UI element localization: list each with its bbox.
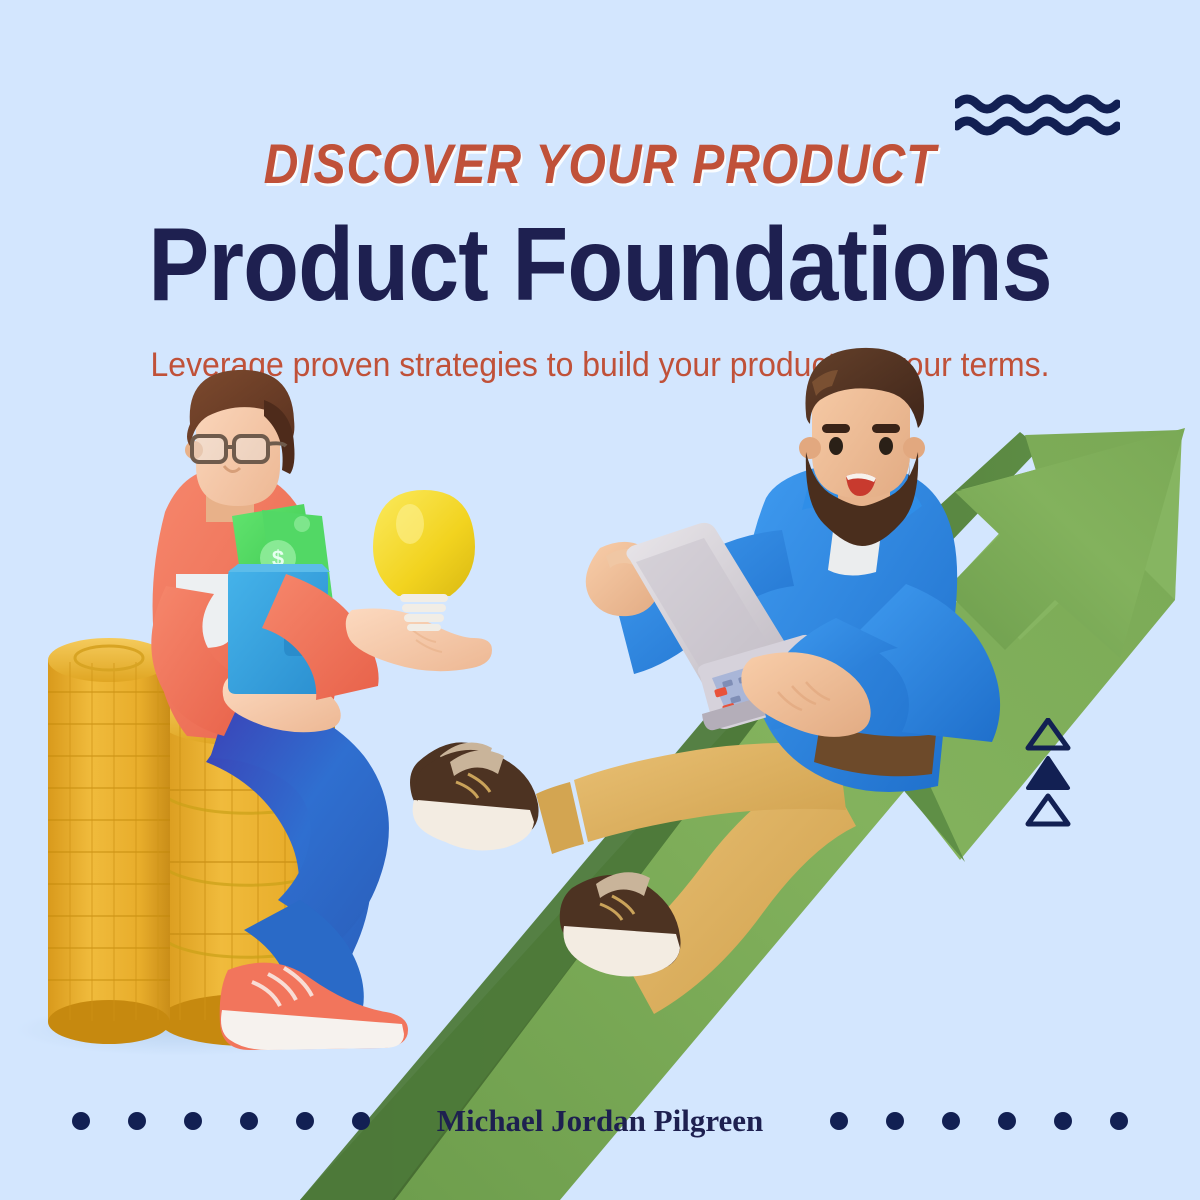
dot: [352, 1112, 370, 1130]
dot: [998, 1112, 1016, 1130]
triangle-decorations: [1025, 718, 1071, 828]
triangle-outline-top: [1028, 720, 1068, 748]
dot: [184, 1112, 202, 1130]
dot: [1110, 1112, 1128, 1130]
dot: [296, 1112, 314, 1130]
dots-row-right: [830, 1112, 1128, 1130]
dot: [240, 1112, 258, 1130]
right-character-figure: [416, 348, 1000, 1014]
dot: [72, 1112, 90, 1130]
author-name: Michael Jordan Pilgreen: [380, 1103, 820, 1139]
illustration-artwork: $: [0, 0, 1200, 1200]
dot: [942, 1112, 960, 1130]
right-character-shoe-upper: [416, 750, 539, 851]
triangle-filled-middle: [1028, 758, 1068, 788]
dot: [886, 1112, 904, 1130]
dot: [830, 1112, 848, 1130]
triangle-outline-bottom: [1028, 796, 1068, 824]
dot: [1054, 1112, 1072, 1130]
dots-row-left: [72, 1112, 370, 1130]
poster-canvas: $: [0, 0, 1200, 1200]
dot: [128, 1112, 146, 1130]
